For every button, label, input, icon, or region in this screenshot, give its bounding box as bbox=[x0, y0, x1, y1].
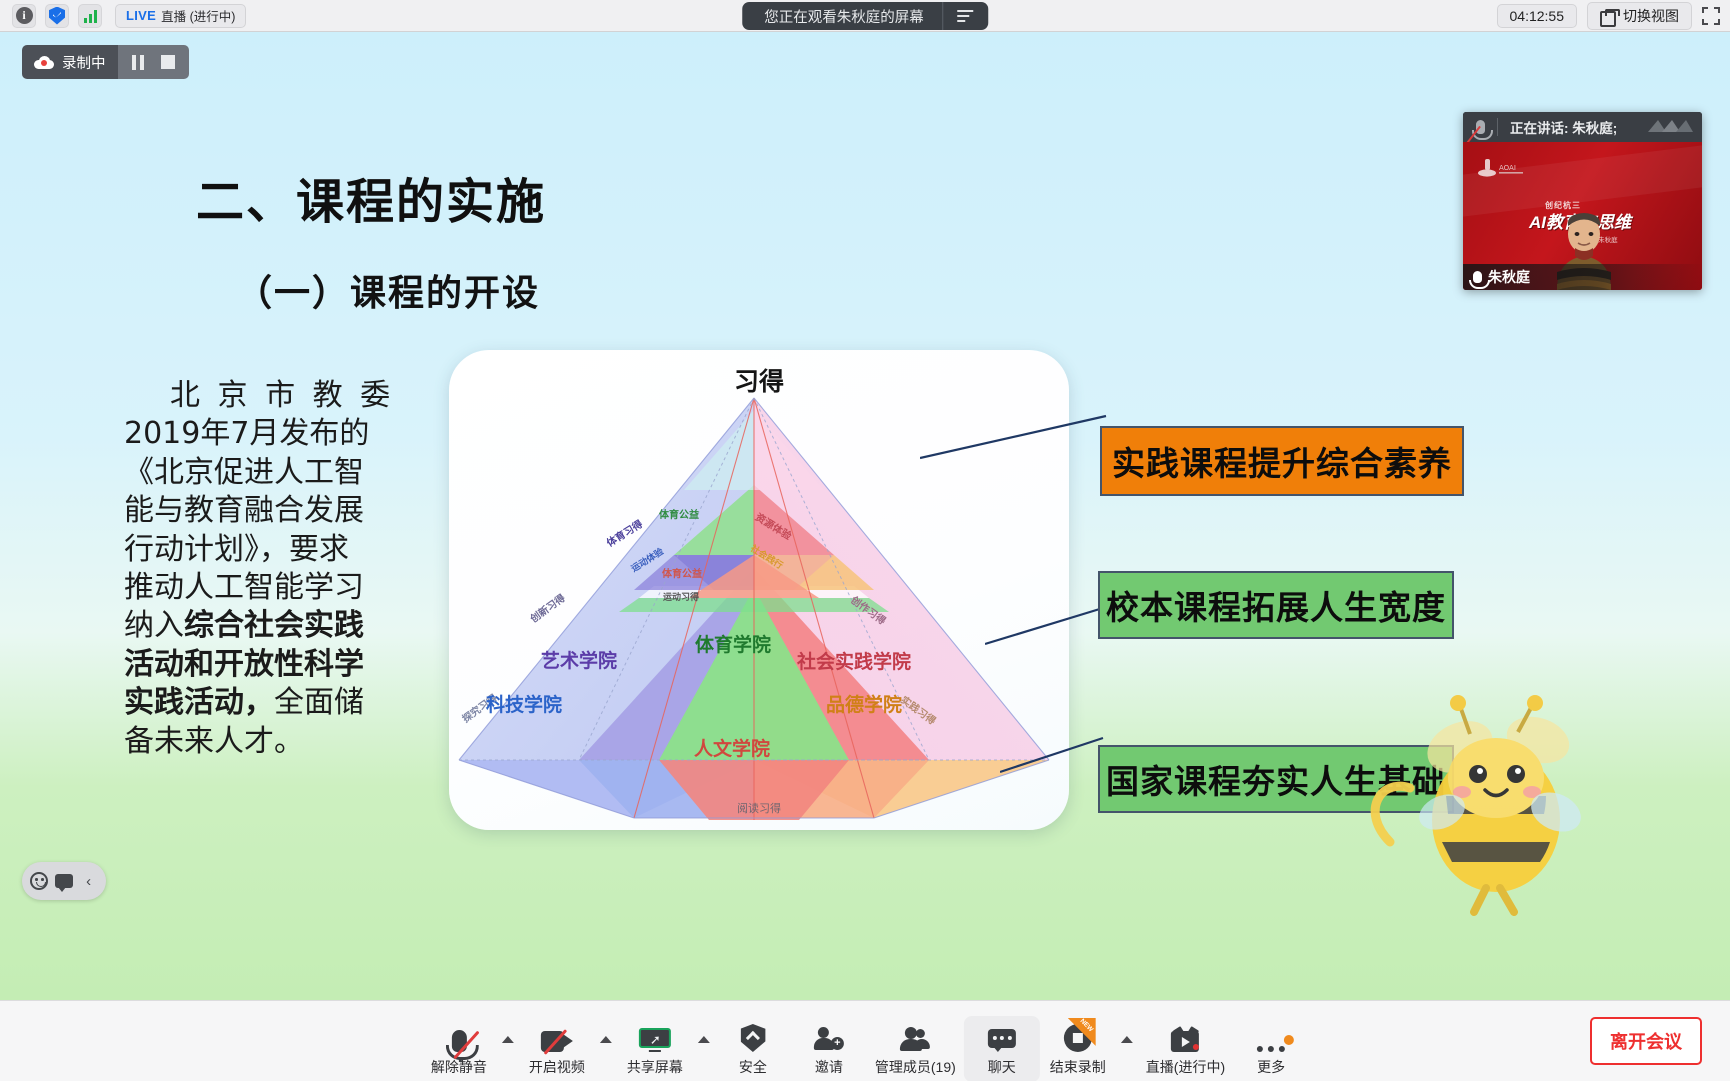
mic-muted-icon bbox=[451, 1022, 466, 1052]
security-button[interactable] bbox=[45, 4, 69, 28]
cloud-record-icon bbox=[34, 56, 54, 69]
screen-share-notice-text: 您正在观看朱秋庭的屏幕 bbox=[742, 6, 942, 27]
pyramid-section-label: 品德学院 bbox=[826, 690, 902, 717]
recording-controls bbox=[118, 45, 189, 79]
pyramid-section-label: 体育学院 bbox=[695, 630, 771, 657]
toolbar-label-security: 安全 bbox=[739, 1057, 767, 1077]
pyramid-section-label: 艺术学院 bbox=[541, 646, 617, 673]
camera-off-icon bbox=[541, 1022, 573, 1052]
recording-options-caret[interactable] bbox=[1116, 1016, 1138, 1081]
expand-icon[interactable] bbox=[1702, 7, 1720, 25]
body-line-3: 《北京促进人工智 bbox=[124, 454, 396, 492]
invite-icon: + bbox=[814, 1022, 844, 1052]
chat-icon bbox=[988, 1022, 1016, 1052]
toolbar-item-chat[interactable]: 聊天 bbox=[964, 1016, 1040, 1081]
reaction-toolbar[interactable]: ‹ bbox=[22, 862, 106, 900]
shield-icon bbox=[740, 1022, 765, 1052]
slide-heading: 二、课程的实施 bbox=[196, 162, 546, 232]
signal-bars-icon bbox=[84, 9, 97, 23]
stop-record-icon: NEW bbox=[1064, 1022, 1092, 1052]
conference-logo-icon: AOAI bbox=[1477, 158, 1529, 180]
pyramid-section-label: 科技学院 bbox=[486, 690, 562, 717]
recording-indicator-bar: 录制中 bbox=[22, 45, 189, 79]
meeting-toolbar: 解除静音 开启视频 ➚ 共享屏幕 安全 bbox=[0, 1000, 1730, 1081]
smiley-icon[interactable] bbox=[28, 869, 51, 893]
callout-practice-course: 实践课程提升综合素养 bbox=[1100, 426, 1464, 496]
toolbar-center-group: 解除静音 开启视频 ➚ 共享屏幕 安全 bbox=[421, 1001, 1309, 1081]
body-line-2: 2019年7月发布的 bbox=[124, 415, 396, 453]
toolbar-item-live-stream[interactable]: 直播(进行中) bbox=[1138, 1016, 1233, 1081]
active-speaker-thumbnail[interactable]: 正在讲话: 朱秋庭; AOAI 创纪杭三 AI教育与思维 主讲人: 朱秋庭 bbox=[1463, 112, 1702, 290]
leave-meeting-button[interactable]: 离开会议 bbox=[1590, 1017, 1702, 1065]
toolbar-item-participants[interactable]: 管理成员(19) bbox=[867, 1016, 964, 1081]
body-line-8: 活动和开放性科学 bbox=[124, 646, 396, 684]
toolbar-label-chat: 聊天 bbox=[988, 1057, 1016, 1077]
screen-share-notice: 您正在观看朱秋庭的屏幕 bbox=[742, 2, 988, 30]
top-bar-left-group: i LIVE 直播 (进行中) bbox=[0, 4, 246, 28]
toolbar-item-more[interactable]: 更多 bbox=[1233, 1016, 1309, 1081]
mic-muted-icon bbox=[1463, 120, 1497, 134]
chat-bubble-icon[interactable] bbox=[53, 869, 76, 893]
speaker-name-overlay: 朱秋庭 bbox=[1463, 264, 1702, 290]
info-button[interactable]: i bbox=[12, 4, 36, 28]
body-line-6: 推动人工智能学习 bbox=[124, 569, 396, 607]
toolbar-label-more: 更多 bbox=[1257, 1057, 1285, 1077]
body-line-5: 行动计划》，要求 bbox=[124, 531, 396, 569]
video-options-caret[interactable] bbox=[595, 1016, 617, 1081]
bee-mascot-icon bbox=[1350, 692, 1600, 922]
toolbar-item-security[interactable]: 安全 bbox=[715, 1016, 791, 1081]
toolbar-label-stop-recording: 结束录制 bbox=[1050, 1057, 1106, 1077]
hamburger-menu-icon bbox=[957, 7, 973, 25]
toolbar-item-invite[interactable]: + 邀请 bbox=[791, 1016, 867, 1081]
toolbar-label-live-stream: 直播(进行中) bbox=[1146, 1057, 1225, 1077]
switch-view-icon bbox=[1600, 9, 1616, 23]
body-line-1: 北 京 市 教 委 bbox=[124, 377, 396, 415]
toolbar-label-share-screen: 共享屏幕 bbox=[627, 1057, 683, 1077]
switch-view-button[interactable]: 切换视图 bbox=[1587, 2, 1692, 30]
chevron-left-icon[interactable]: ‹ bbox=[77, 869, 100, 893]
network-quality-button[interactable] bbox=[78, 4, 102, 28]
mic-icon bbox=[1473, 271, 1482, 283]
slide-body-text: 北 京 市 教 委 2019年7月发布的 《北京促进人工智 能与教育融合发展 行… bbox=[124, 377, 396, 761]
live-word: LIVE bbox=[126, 8, 156, 23]
speaker-video-feed: AOAI 创纪杭三 AI教育与思维 主讲人: 朱秋庭 朱秋庭 bbox=[1463, 142, 1702, 290]
body-line-10: 备未来人才。 bbox=[124, 723, 396, 761]
live-status-badge[interactable]: LIVE 直播 (进行中) bbox=[115, 4, 246, 28]
screen-share-menu-button[interactable] bbox=[942, 2, 988, 30]
speaking-now-label: 正在讲话: 朱秋庭; bbox=[1498, 117, 1617, 137]
pyramid-micro-label: 运动习得 bbox=[663, 590, 699, 603]
leader-line-1 bbox=[920, 412, 1110, 462]
toolbar-item-start-video[interactable]: 开启视频 bbox=[519, 1016, 595, 1081]
toolbar-item-share-screen[interactable]: ➚ 共享屏幕 bbox=[617, 1016, 693, 1081]
info-circle-icon: i bbox=[16, 7, 33, 24]
svg-text:AOAI: AOAI bbox=[1499, 164, 1516, 172]
pyramid-section-label: 人文学院 bbox=[694, 734, 770, 761]
live-status-text: 直播 (进行中) bbox=[161, 6, 235, 25]
shield-icon bbox=[49, 7, 65, 25]
toolbar-label-participants: 管理成员(19) bbox=[875, 1057, 956, 1077]
leader-line-2 bbox=[985, 602, 1105, 646]
top-bar-right-group: 04:12:55 切换视图 bbox=[1497, 0, 1721, 32]
system-top-bar: i LIVE 直播 (进行中) 您正在观看朱秋庭的屏幕 04:12:55 bbox=[0, 0, 1730, 32]
toolbar-item-unmute[interactable]: 解除静音 bbox=[421, 1016, 497, 1081]
live-stream-icon bbox=[1170, 1022, 1200, 1052]
toolbar-label-invite: 邀请 bbox=[815, 1057, 843, 1077]
toolbar-label-start-video: 开启视频 bbox=[529, 1057, 585, 1077]
audio-options-caret[interactable] bbox=[497, 1016, 519, 1081]
zoom-watermark-icon bbox=[1646, 118, 1694, 136]
share-options-caret[interactable] bbox=[693, 1016, 715, 1081]
meeting-timer: 04:12:55 bbox=[1497, 4, 1578, 28]
recording-status-label: 录制中 bbox=[62, 52, 106, 73]
recording-status: 录制中 bbox=[22, 45, 118, 79]
share-screen-icon: ➚ bbox=[639, 1022, 671, 1052]
body-line-9: 实践活动，全面储 bbox=[124, 684, 396, 722]
leader-line-3 bbox=[1000, 732, 1105, 776]
slide-subheading: （一）课程的开设 bbox=[236, 264, 540, 316]
pyramid-micro-label: 体育公益 bbox=[662, 565, 702, 580]
speaker-name: 朱秋庭 bbox=[1488, 267, 1530, 287]
speaker-panel-header: 正在讲话: 朱秋庭; bbox=[1463, 112, 1702, 142]
pause-icon[interactable] bbox=[132, 55, 145, 70]
pyramid-micro-label: 体育公益 bbox=[659, 506, 699, 521]
stop-icon[interactable] bbox=[161, 55, 175, 69]
participants-icon bbox=[900, 1022, 930, 1052]
toolbar-item-stop-recording[interactable]: NEW 结束录制 bbox=[1040, 1016, 1116, 1081]
more-dots-icon bbox=[1257, 1022, 1285, 1052]
callout-school-course: 校本课程拓展人生宽度 bbox=[1098, 571, 1454, 639]
switch-view-label: 切换视图 bbox=[1623, 6, 1679, 26]
pyramid-section-label: 社会实践学院 bbox=[797, 647, 911, 674]
zoom-meeting-window: i LIVE 直播 (进行中) 您正在观看朱秋庭的屏幕 04:12:55 bbox=[0, 0, 1730, 1081]
body-line-7: 纳入综合社会实践 bbox=[124, 607, 396, 645]
body-line-4: 能与教育融合发展 bbox=[124, 492, 396, 530]
pyramid-bottom-label: 阅读习得 bbox=[449, 800, 1069, 816]
